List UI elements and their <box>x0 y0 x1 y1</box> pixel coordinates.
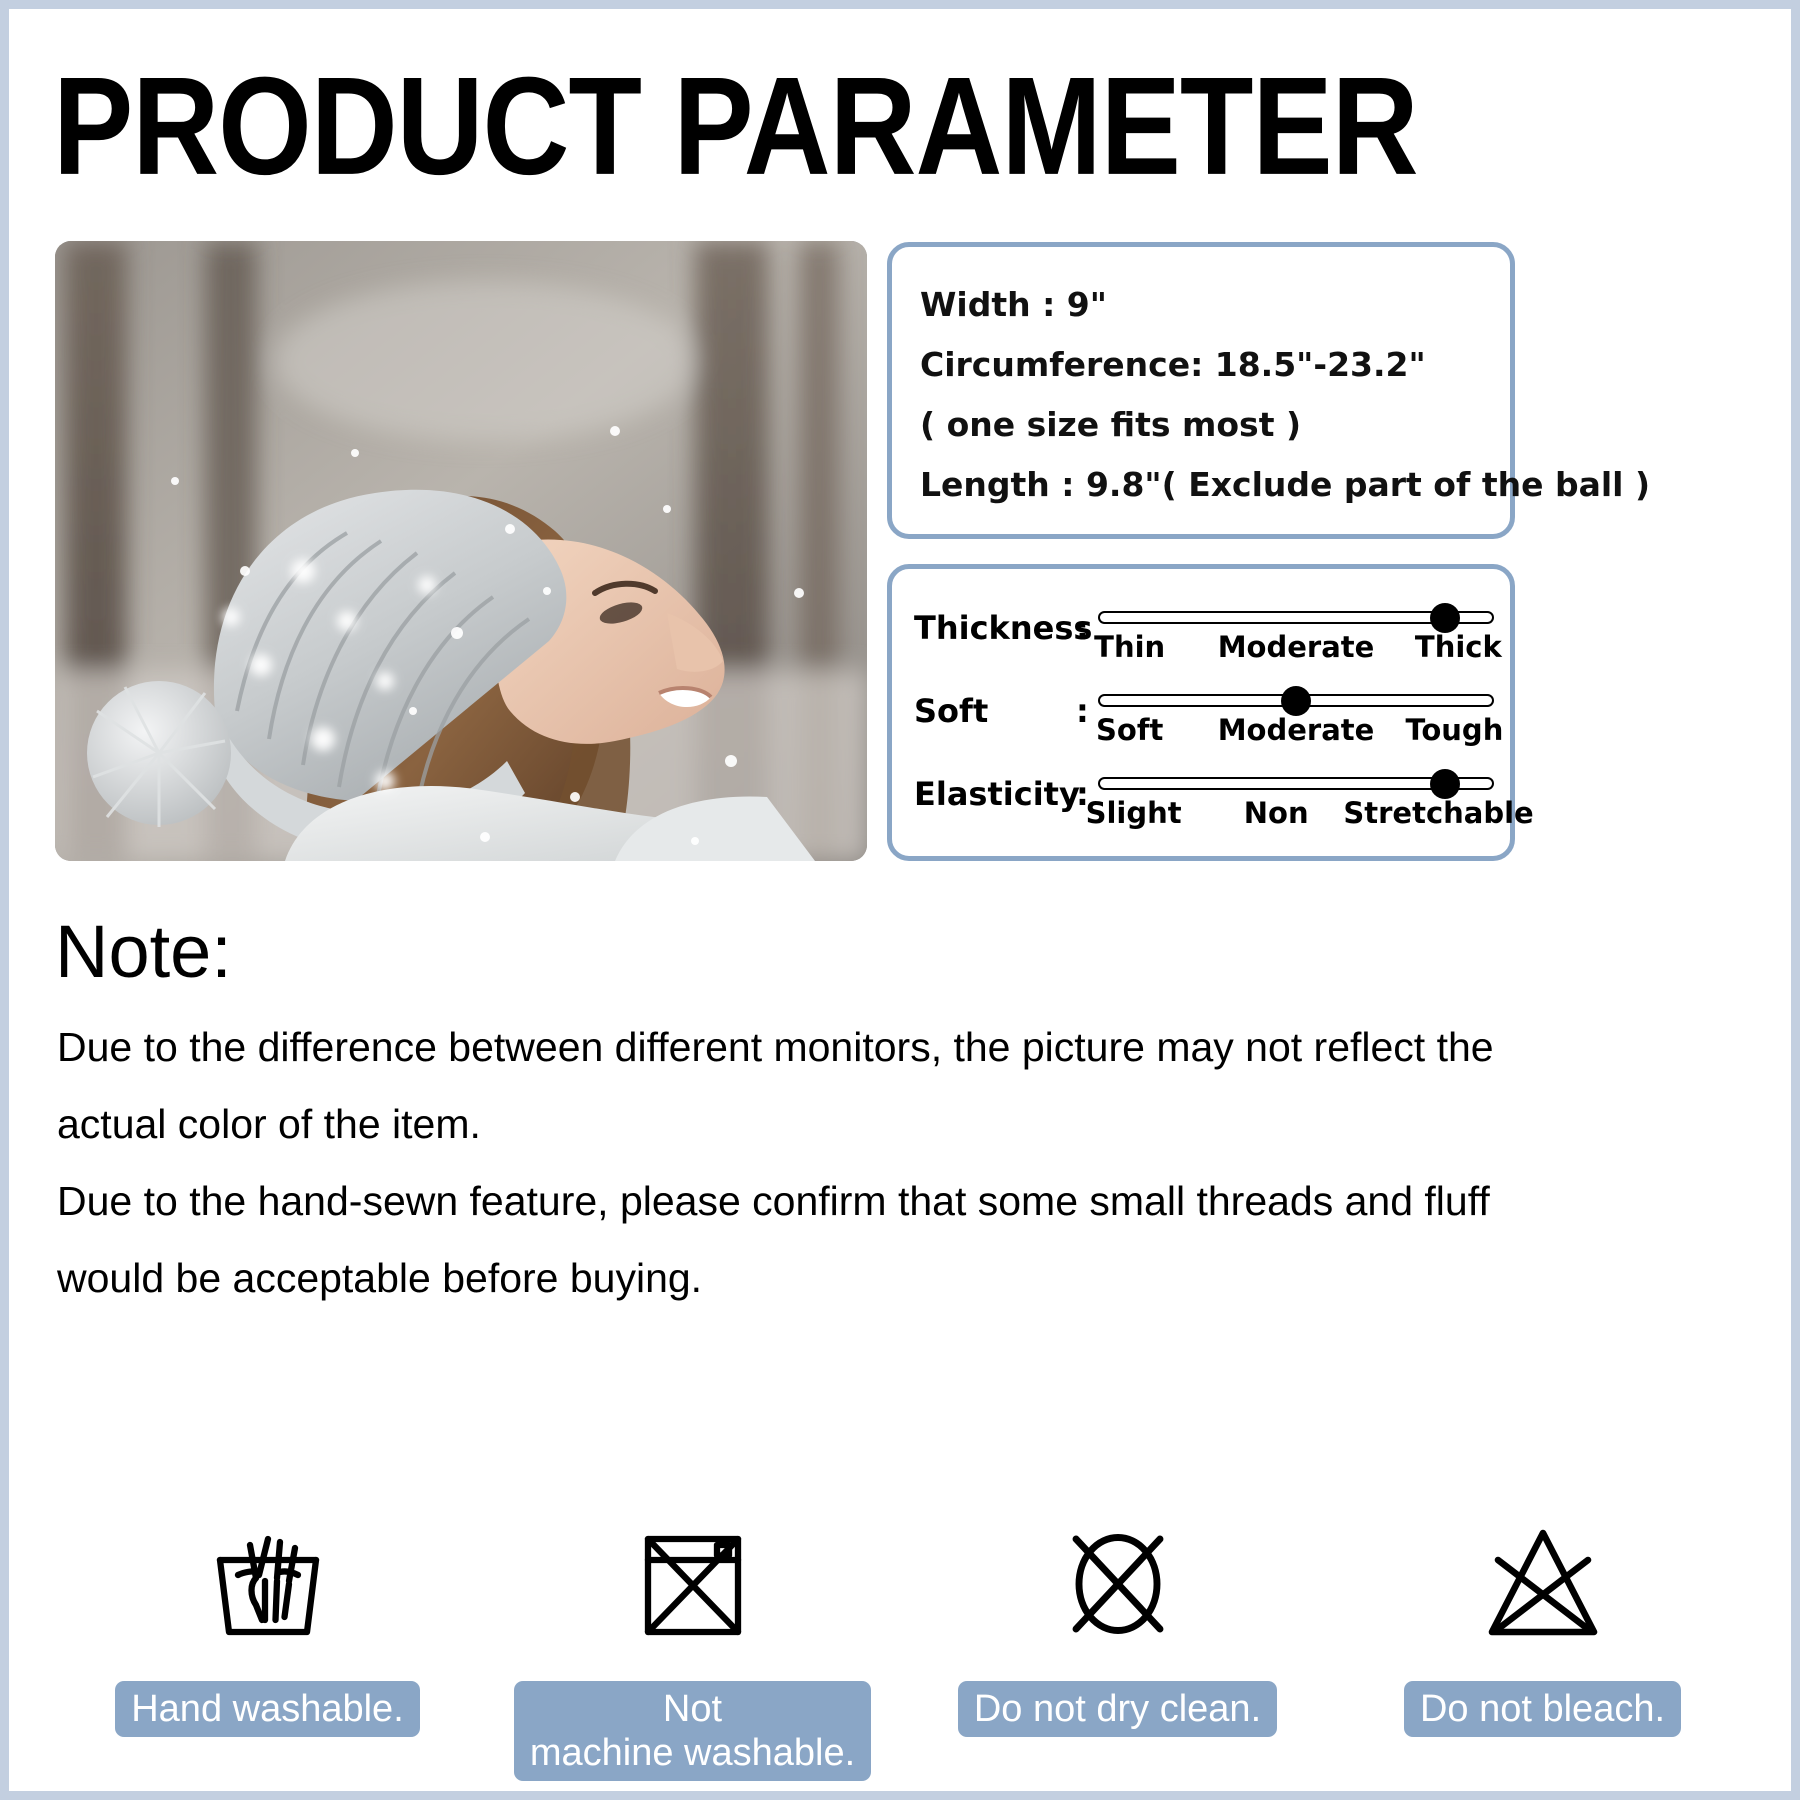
slider-track-thickness[interactable] <box>1098 611 1494 624</box>
care-label-no-dry-clean: Do not dry clean. <box>958 1681 1277 1737</box>
slider-ticks-thickness: Thin Moderate Thick <box>1098 628 1494 668</box>
product-photo <box>55 241 867 861</box>
slider-track-soft[interactable] <box>1098 694 1494 707</box>
slider-tick-soft-moderate: Moderate <box>1218 711 1375 749</box>
care-item-no-machine-wash: Not machine washable. <box>480 1509 905 1781</box>
care-label-no-bleach: Do not bleach. <box>1404 1681 1681 1737</box>
note-heading: Note: <box>55 909 232 995</box>
slider-ticks-soft: Soft Moderate Tough <box>1098 711 1494 751</box>
hand-wash-icon <box>193 1509 343 1659</box>
slider-tick-moderate: Moderate <box>1218 628 1375 666</box>
specifications-panel: Width : 9" Circumference: 18.5"-23.2" ( … <box>887 242 1515 539</box>
spec-line-length: Length : 9.8"( Exclude part of the ball … <box>920 455 1500 515</box>
slider-ticks-elasticity: Slight Non Stretchable <box>1098 794 1494 834</box>
attributes-panel: Thickness : Thin Moderate Thick Soft : <box>887 564 1515 861</box>
no-machine-wash-icon <box>618 1509 768 1659</box>
slider-tick-stretchable: Stretchable <box>1343 794 1533 832</box>
slider-label-thickness: Thickness <box>914 593 1076 647</box>
slider-track-elasticity[interactable] <box>1098 777 1494 790</box>
slider-label-soft: Soft <box>914 676 1076 730</box>
no-bleach-icon <box>1468 1509 1618 1659</box>
slider-tick-thick: Thick <box>1415 628 1502 666</box>
note-body: Due to the difference between different … <box>57 1009 1747 1317</box>
slider-control-soft[interactable]: Soft Moderate Tough <box>1098 676 1494 751</box>
care-label-hand-wash: Hand washable. <box>115 1681 420 1737</box>
care-instructions-row: Hand washable. Not machine washable. <box>55 1509 1755 1781</box>
care-item-hand-wash: Hand washable. <box>55 1509 480 1781</box>
slider-colon-soft: : <box>1076 676 1098 730</box>
no-dry-clean-icon <box>1043 1509 1193 1659</box>
care-item-no-dry-clean: Do not dry clean. <box>905 1509 1330 1781</box>
slider-tick-slight: Slight <box>1086 794 1182 832</box>
spec-line-circumference: Circumference: 18.5"-23.2" <box>920 335 1500 395</box>
slider-tick-non: Non <box>1244 794 1309 832</box>
slider-tick-tough: Tough <box>1405 711 1503 749</box>
note-line-2: actual color of the item. <box>57 1086 1747 1163</box>
slider-label-elasticity: Elasticity <box>914 759 1076 813</box>
slider-row-soft: Soft : Soft Moderate Tough <box>914 676 1494 759</box>
slider-tick-soft: Soft <box>1096 711 1163 749</box>
page-title: PRODUCT PARAMETER <box>53 57 1797 196</box>
note-line-1: Due to the difference between different … <box>57 1009 1747 1086</box>
slider-control-elasticity[interactable]: Slight Non Stretchable <box>1098 759 1494 834</box>
slider-row-thickness: Thickness : Thin Moderate Thick <box>914 593 1494 676</box>
slider-tick-thin: Thin <box>1094 628 1165 666</box>
slider-row-elasticity: Elasticity : Slight Non Stretchable <box>914 759 1494 842</box>
attribute-slider-list: Thickness : Thin Moderate Thick Soft : <box>914 593 1494 844</box>
care-label-no-machine-wash: Not machine washable. <box>514 1681 871 1781</box>
slider-control-thickness[interactable]: Thin Moderate Thick <box>1098 593 1494 668</box>
note-line-3: Due to the hand-sewn feature, please con… <box>57 1163 1747 1240</box>
spec-line-width: Width : 9" <box>920 275 1500 335</box>
care-item-no-bleach: Do not bleach. <box>1330 1509 1755 1781</box>
page-title-container: PRODUCT PARAMETER <box>53 57 1763 175</box>
spec-line-size-note: ( one size fits most ) <box>920 395 1500 455</box>
note-line-4: would be acceptable before buying. <box>57 1240 1747 1317</box>
product-parameter-page: PRODUCT PARAMETER <box>0 0 1800 1800</box>
specifications-list: Width : 9" Circumference: 18.5"-23.2" ( … <box>920 275 1500 515</box>
